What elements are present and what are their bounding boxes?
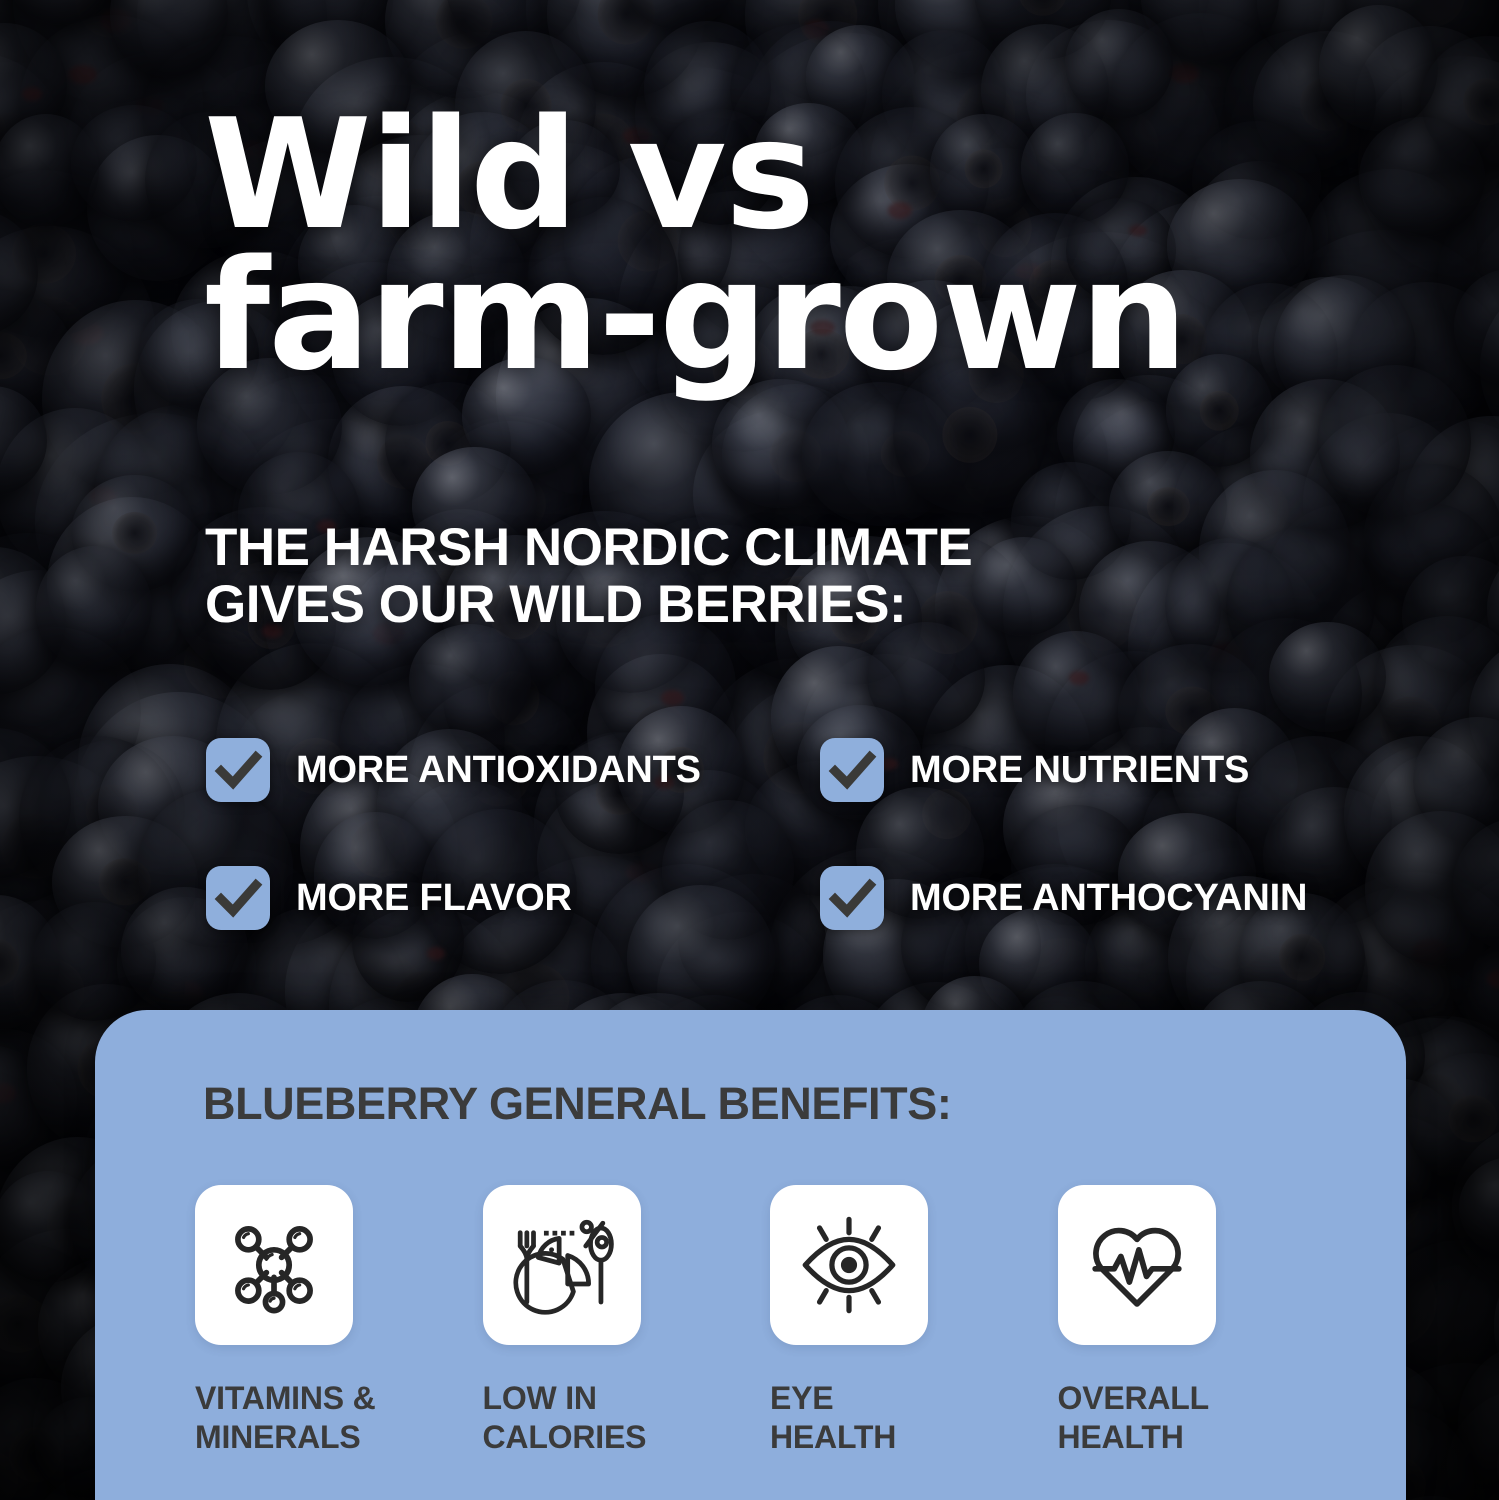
checklist-item-anthocyanin: MORE ANTHOCYANIN bbox=[820, 866, 1386, 930]
subheading: THE HARSH NORDIC CLIMATE GIVES OUR WILD … bbox=[205, 519, 1285, 633]
heart-pulse-icon bbox=[1080, 1208, 1194, 1322]
checklist-row: MORE FLAVOR MORE ANTHOCYANIN bbox=[206, 834, 1386, 962]
general-benefits-panel: BLUEBERRY GENERAL BENEFITS: bbox=[95, 1010, 1406, 1500]
panel-title: BLUEBERRY GENERAL BENEFITS: bbox=[203, 1078, 951, 1130]
benefit-icon-tile bbox=[1058, 1185, 1216, 1345]
benefit-item-eye-health: EYE HEALTH bbox=[770, 1185, 1058, 1457]
benefit-item-label: VITAMINS & MINERALS bbox=[195, 1379, 395, 1457]
benefit-item-label: OVERALL HEALTH bbox=[1058, 1379, 1258, 1457]
molecule-icon bbox=[217, 1208, 331, 1322]
checklist-item-label: MORE ANTIOXIDANTS bbox=[296, 749, 701, 792]
checklist-item-nutrients: MORE NUTRIENTS bbox=[820, 738, 1386, 802]
benefits-grid: VITAMINS & MINERALS bbox=[195, 1185, 1345, 1457]
check-icon bbox=[206, 738, 270, 802]
checklist-item-label: MORE ANTHOCYANIN bbox=[910, 877, 1307, 920]
checklist-row: MORE ANTIOXIDANTS MORE NUTRIENTS bbox=[206, 706, 1386, 834]
check-icon bbox=[820, 866, 884, 930]
benefit-item-low-in-calories: LOW IN CALORIES bbox=[483, 1185, 771, 1457]
benefit-icon-tile bbox=[195, 1185, 353, 1345]
checklist-item-label: MORE FLAVOR bbox=[296, 877, 572, 920]
benefit-item-vitamins-minerals: VITAMINS & MINERALS bbox=[195, 1185, 483, 1457]
poster-root: Wild vs farm-grown THE HARSH NORDIC CLIM… bbox=[0, 0, 1499, 1500]
checklist-item-flavor: MORE FLAVOR bbox=[206, 866, 820, 930]
benefit-item-label: LOW IN CALORIES bbox=[483, 1379, 683, 1457]
benefit-item-label: EYE HEALTH bbox=[770, 1379, 970, 1457]
cutlery-pie-chart-icon bbox=[505, 1208, 619, 1322]
benefit-icon-tile bbox=[483, 1185, 641, 1345]
eye-icon bbox=[792, 1208, 906, 1322]
check-icon bbox=[206, 866, 270, 930]
check-icon bbox=[820, 738, 884, 802]
page-title: Wild vs farm-grown bbox=[204, 104, 1304, 387]
checklist-item-label: MORE NUTRIENTS bbox=[910, 749, 1249, 792]
benefits-checklist: MORE ANTIOXIDANTS MORE NUTRIENTS bbox=[206, 706, 1386, 962]
checklist-item-antioxidants: MORE ANTIOXIDANTS bbox=[206, 738, 820, 802]
poster-content: Wild vs farm-grown THE HARSH NORDIC CLIM… bbox=[0, 0, 1499, 1500]
benefit-icon-tile bbox=[770, 1185, 928, 1345]
benefit-item-overall-health: OVERALL HEALTH bbox=[1058, 1185, 1346, 1457]
